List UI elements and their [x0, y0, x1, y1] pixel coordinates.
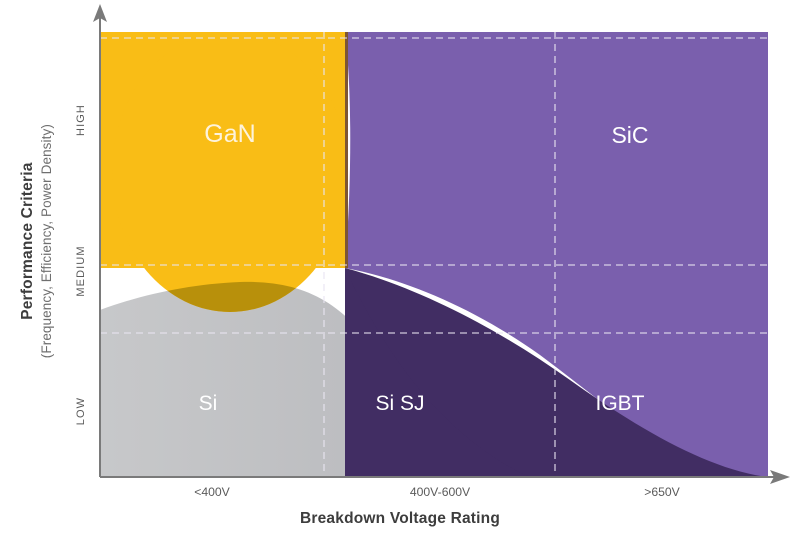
region-gan-ellipse — [112, 32, 348, 312]
y-axis-title: Performance Criteria — [18, 21, 38, 461]
y-tick-medium: MEDIUM — [75, 226, 87, 316]
plot-regions — [100, 32, 768, 477]
technology-positioning-chart: GaN SiC Si Si SJ IGBT HIGH MEDIUM LOW <4… — [0, 0, 800, 550]
x-axis-title: Breakdown Voltage Rating — [0, 510, 800, 528]
y-tick-high: HIGH — [75, 75, 87, 165]
y-tick-low: LOW — [75, 366, 87, 456]
y-axis-title-group: Performance Criteria (Frequency, Efficie… — [18, 21, 56, 461]
x-tick-over-650v: >650V — [592, 485, 732, 499]
chart-canvas — [0, 0, 800, 550]
x-tick-400-600v: 400V-600V — [370, 485, 510, 499]
x-tick-under-400v: <400V — [142, 485, 282, 499]
y-axis-subtitle: (Frequency, Efficiency, Power Density) — [38, 21, 56, 461]
overlap-gan-sic-block — [345, 32, 348, 268]
